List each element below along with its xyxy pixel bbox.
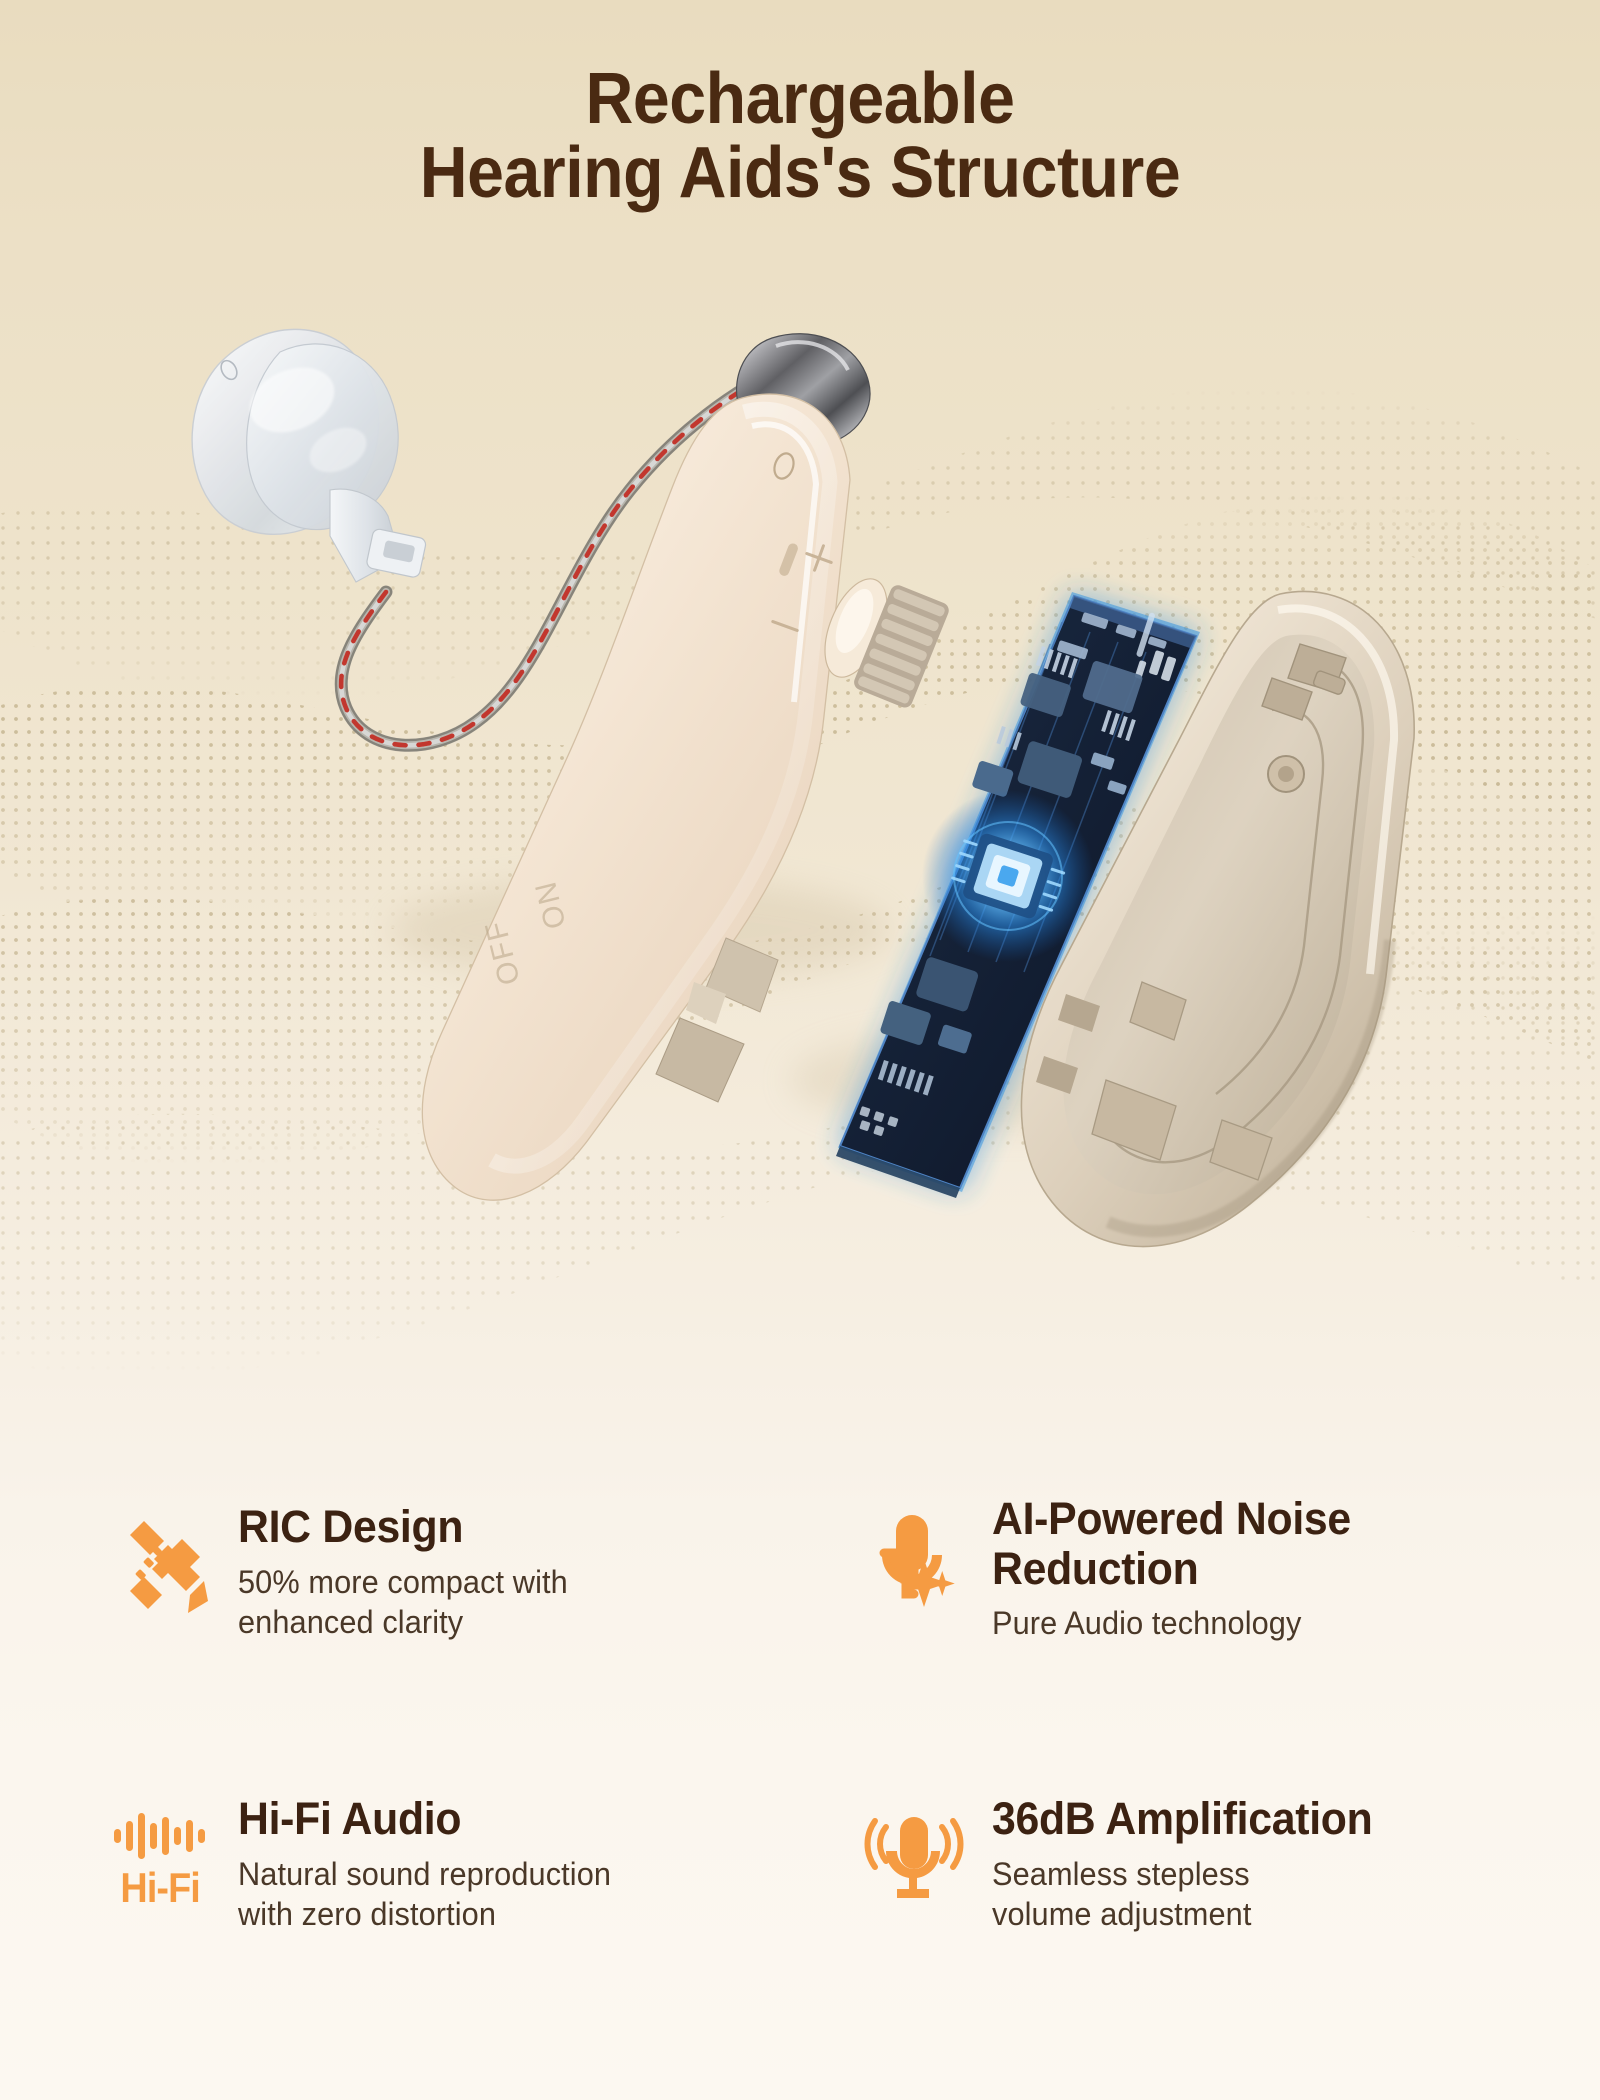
microphone-waves-icon	[862, 1800, 966, 1918]
waveform-hifi-icon: Hi-Fi	[108, 1800, 212, 1918]
feature-subtitle: Pure Audio technology	[992, 1603, 1355, 1643]
page-header: Rechargeable Hearing Aids's Structure	[0, 62, 1600, 210]
feature-title: AI-Powered Noise Reduction	[992, 1494, 1351, 1593]
feature-subtitle: Seamless stepless volume adjustment	[992, 1854, 1376, 1935]
feature-title: 36dB Amplification	[992, 1794, 1372, 1844]
feature-hifi-audio: Hi-Fi Hi-Fi Audio Natural sound reproduc…	[108, 1790, 748, 1934]
microphone-sparkle-icon	[862, 1500, 966, 1618]
feature-36db-amplification: 36dB Amplification Seamless stepless vol…	[862, 1790, 1522, 1934]
feature-subtitle: Natural sound reproduction with zero dis…	[238, 1854, 611, 1935]
feature-title: Hi-Fi Audio	[238, 1794, 607, 1844]
ear-dome-part	[192, 329, 427, 582]
feature-ai-noise-reduction: AI-Powered Noise Reduction Pure Audio te…	[862, 1490, 1522, 1643]
product-exploded-view: ON OFF	[0, 240, 1600, 1470]
infographic-page: Rechargeable Hearing Aids's Structure	[0, 0, 1600, 2100]
page-title-line-2: Hearing Aids's Structure	[64, 136, 1536, 210]
feature-title: RIC Design	[238, 1502, 564, 1552]
hifi-icon-label: Hi-Fi	[120, 1867, 199, 1909]
feature-subtitle: 50% more compact with enhanced clarity	[238, 1562, 568, 1643]
feature-ric-design: RIC Design 50% more compact with enhance…	[108, 1498, 728, 1642]
features-grid: RIC Design 50% more compact with enhance…	[0, 1490, 1600, 2100]
ruler-pencil-cross-icon	[108, 1508, 212, 1626]
page-title-line-1: Rechargeable	[64, 62, 1536, 136]
